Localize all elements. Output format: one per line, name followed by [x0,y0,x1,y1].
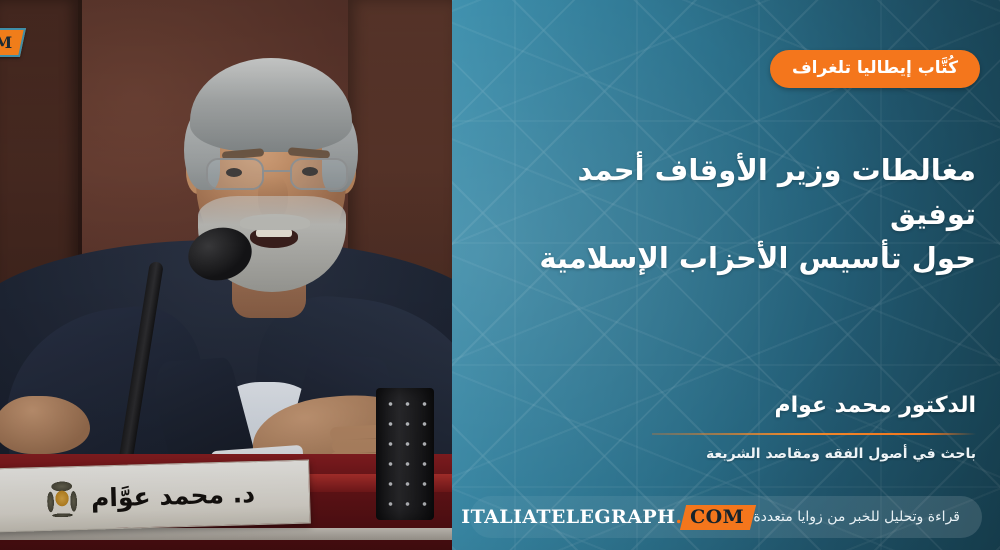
studded-object [376,388,434,520]
info-panel: كُتَّاب إيطاليا تلغراف مغالطات وزير الأو… [452,0,1000,550]
author-role: باحث في أصول الفقه ومقاصد الشريعة [652,446,976,462]
author-name: الدكتور محمد عوام [652,392,976,421]
headline: مغالطات وزير الأوقاف أحمد توفيق حول تأسي… [486,148,976,280]
site-logo[interactable]: ITALIATELEGRAPH . COM [461,505,753,530]
bottom-bar: قراءة وتحليل للخبر من زوايا متعددة ITALI… [470,496,982,538]
speaker-photo: د. محمد عوَّام OM [0,0,452,550]
headline-line-1: مغالطات وزير الأوقاف أحمد توفيق [578,153,976,231]
article-card: د. محمد عوَّام OM كُتَّاب إيطاليا تلغراف… [0,0,1000,550]
site-logo-name: ITALIATELEGRAPH [461,506,675,528]
corner-watermark-text: OM [0,33,13,52]
teeth [256,229,292,237]
category-badge[interactable]: كُتَّاب إيطاليا تلغراف [770,50,980,88]
category-badge-label: كُتَّاب إيطاليا تلغراف [792,58,958,78]
emblem-icon [44,478,79,519]
mustache [240,214,310,230]
author-divider [652,433,976,435]
eyeglass-bridge [264,170,290,172]
site-logo-tld: COM [680,505,756,530]
eyeglass-lens-left [206,158,264,190]
nameplate-text: د. محمد عوَّام [91,479,256,513]
eyeglass-lens-right [290,158,348,190]
desk-nameplate: د. محمد عوَّام [0,460,311,533]
site-tagline: قراءة وتحليل للخبر من زوايا متعددة [753,509,960,525]
headline-line-2: حول تأسيس الأحزاب الإسلامية [539,241,976,275]
author-block: الدكتور محمد عوام باحث في أصول الفقه ومق… [652,392,976,462]
